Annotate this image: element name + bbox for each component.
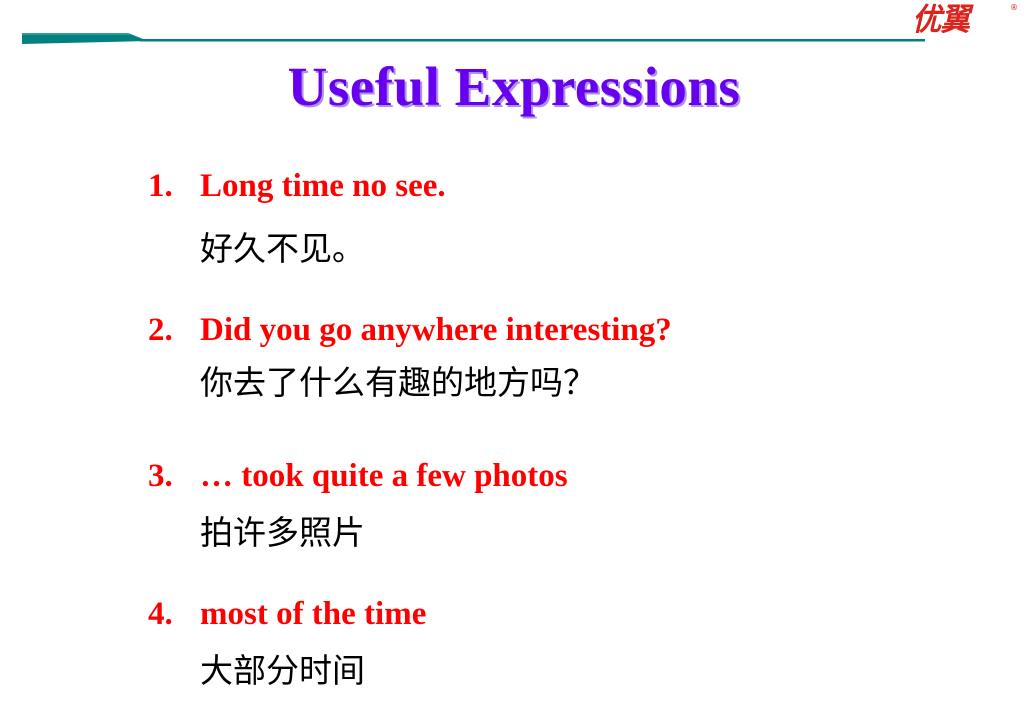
brand-logo-text: 优翼 (912, 2, 969, 38)
header-decoration-band (0, 0, 1028, 60)
expression-chinese: 你去了什么有趣的地方吗？ (200, 362, 670, 404)
page-title: Useful Expressions (0, 56, 1028, 118)
expression-chinese: 大部分时间 (200, 650, 670, 692)
expression-number: 3. (148, 456, 200, 496)
expression-english-text: … took quite a few photos (200, 458, 568, 494)
expression-english: 1.Long time no see. (148, 166, 446, 206)
expression-chinese: 拍许多照片 (200, 512, 670, 554)
teal-band-icon (0, 0, 1028, 60)
useful-expressions-list: 1.Long time no see. 好久不见。 2.Did you go a… (0, 150, 1028, 724)
expression-number: 2. (148, 310, 200, 350)
registered-mark-icon: ® (1010, 3, 1018, 12)
expression-number: 1. (148, 166, 200, 206)
expression-english: 4.most of the time (148, 594, 426, 634)
slide-canvas: 优翼 ® Useful Expressions 1.Long time no s… (0, 0, 1028, 724)
expression-english-text: most of the time (200, 596, 426, 632)
expression-chinese: 好久不见。 (200, 228, 670, 270)
brand-logo: 优翼 ® (912, 2, 1016, 44)
expression-english-text: Did you go anywhere interesting? (200, 312, 672, 348)
expression-english-text: Long time no see. (200, 168, 446, 204)
expression-english: 3.… took quite a few photos (148, 456, 568, 496)
expression-number: 4. (148, 594, 200, 634)
expression-english: 2.Did you go anywhere interesting? (148, 310, 672, 350)
